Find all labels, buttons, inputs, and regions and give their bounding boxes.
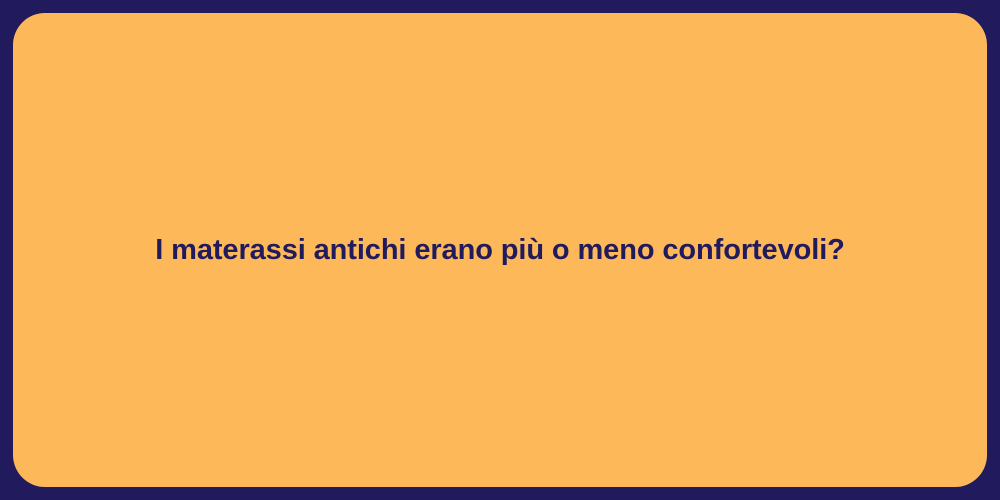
- card-panel: I materassi antichi erano più o meno con…: [13, 13, 987, 487]
- card-frame: I materassi antichi erano più o meno con…: [0, 0, 1000, 500]
- headline-text: I materassi antichi erano più o meno con…: [115, 232, 885, 268]
